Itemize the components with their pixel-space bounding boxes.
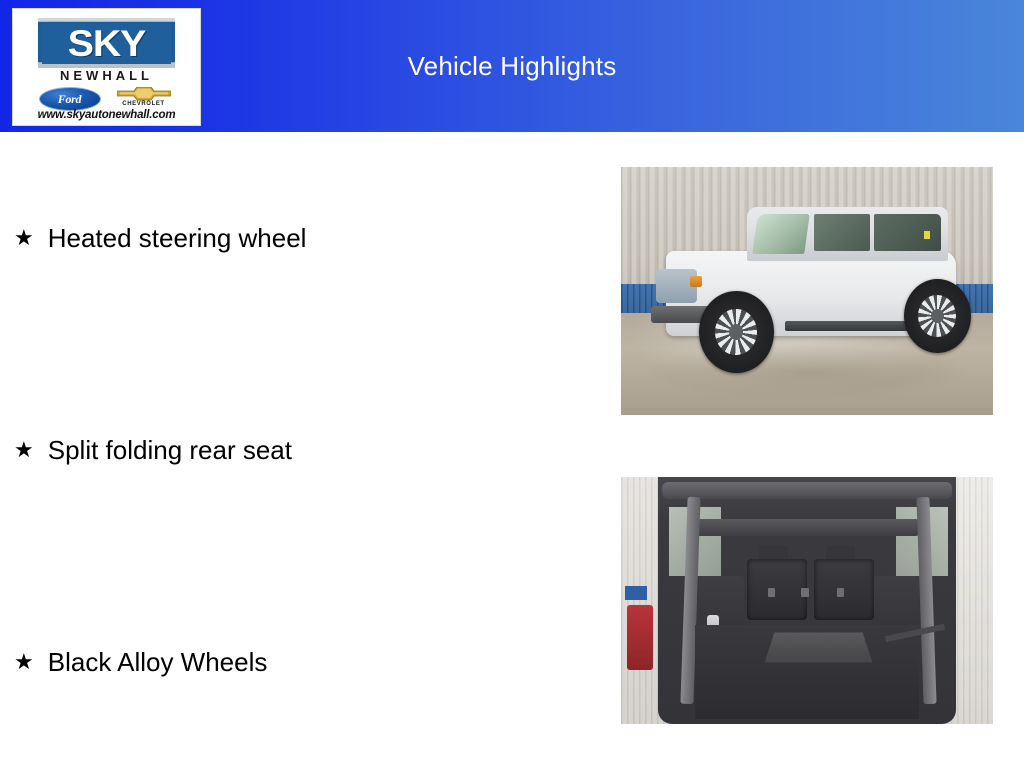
turn-signal-lamp (690, 276, 702, 287)
sky-brand-text: SKY (68, 25, 145, 62)
cargo-floor-mat (764, 633, 871, 663)
roll-bar (692, 519, 923, 536)
star-bullet-icon: ★ (14, 646, 34, 678)
seat-latch-icon (801, 588, 808, 596)
dealer-website-url[interactable]: www.skyautonewhall.com (13, 109, 200, 121)
ford-logo-text: Ford (58, 92, 81, 107)
window-sticker-tag (924, 231, 930, 238)
seat-latch-icon (768, 588, 775, 596)
page-header: Vehicle Highlights SKY NEWHALL Ford CH (0, 0, 1024, 132)
chevrolet-bowtie-icon (117, 87, 171, 101)
tailgate-header (662, 482, 952, 499)
franchise-logos-row: Ford CHEVROLET (13, 87, 200, 111)
sky-logo-box: SKY (42, 22, 171, 64)
highlight-label-1: Split folding rear seat (48, 434, 292, 466)
star-bullet-icon: ★ (14, 434, 34, 466)
star-bullet-icon: ★ (14, 222, 34, 254)
running-board (785, 321, 919, 331)
rear-alloy-wheel (904, 279, 971, 353)
rear-door-glass (874, 214, 941, 251)
sky-logo-frame: SKY (38, 18, 175, 68)
windshield-glass (752, 214, 810, 254)
highlight-item-2: ★ Black Alloy Wheels (14, 646, 574, 678)
highlight-label-2: Black Alloy Wheels (48, 646, 268, 678)
wall-blue-accent (625, 586, 647, 601)
tail-light (627, 605, 653, 669)
highlight-label-0: Heated steering wheel (48, 222, 307, 254)
highlight-item-1: ★ Split folding rear seat (14, 434, 574, 466)
dealer-logo[interactable]: SKY NEWHALL Ford CHEVROLET www.skyautone… (12, 8, 201, 126)
seat-latch-icon (837, 588, 844, 596)
ford-oval-icon: Ford (39, 87, 101, 111)
vehicle-exterior-photo (621, 167, 993, 415)
front-alloy-wheel (699, 291, 773, 373)
chevrolet-wordmark: CHEVROLET (113, 101, 175, 107)
vehicle-cargo-photo (621, 477, 993, 724)
rear-seat-right-section (814, 559, 874, 621)
dealer-location-text: NEWHALL (13, 68, 200, 83)
front-door-glass (814, 214, 870, 251)
rear-seat-left-section (747, 559, 807, 621)
highlight-item-0: ★ Heated steering wheel (14, 222, 574, 254)
